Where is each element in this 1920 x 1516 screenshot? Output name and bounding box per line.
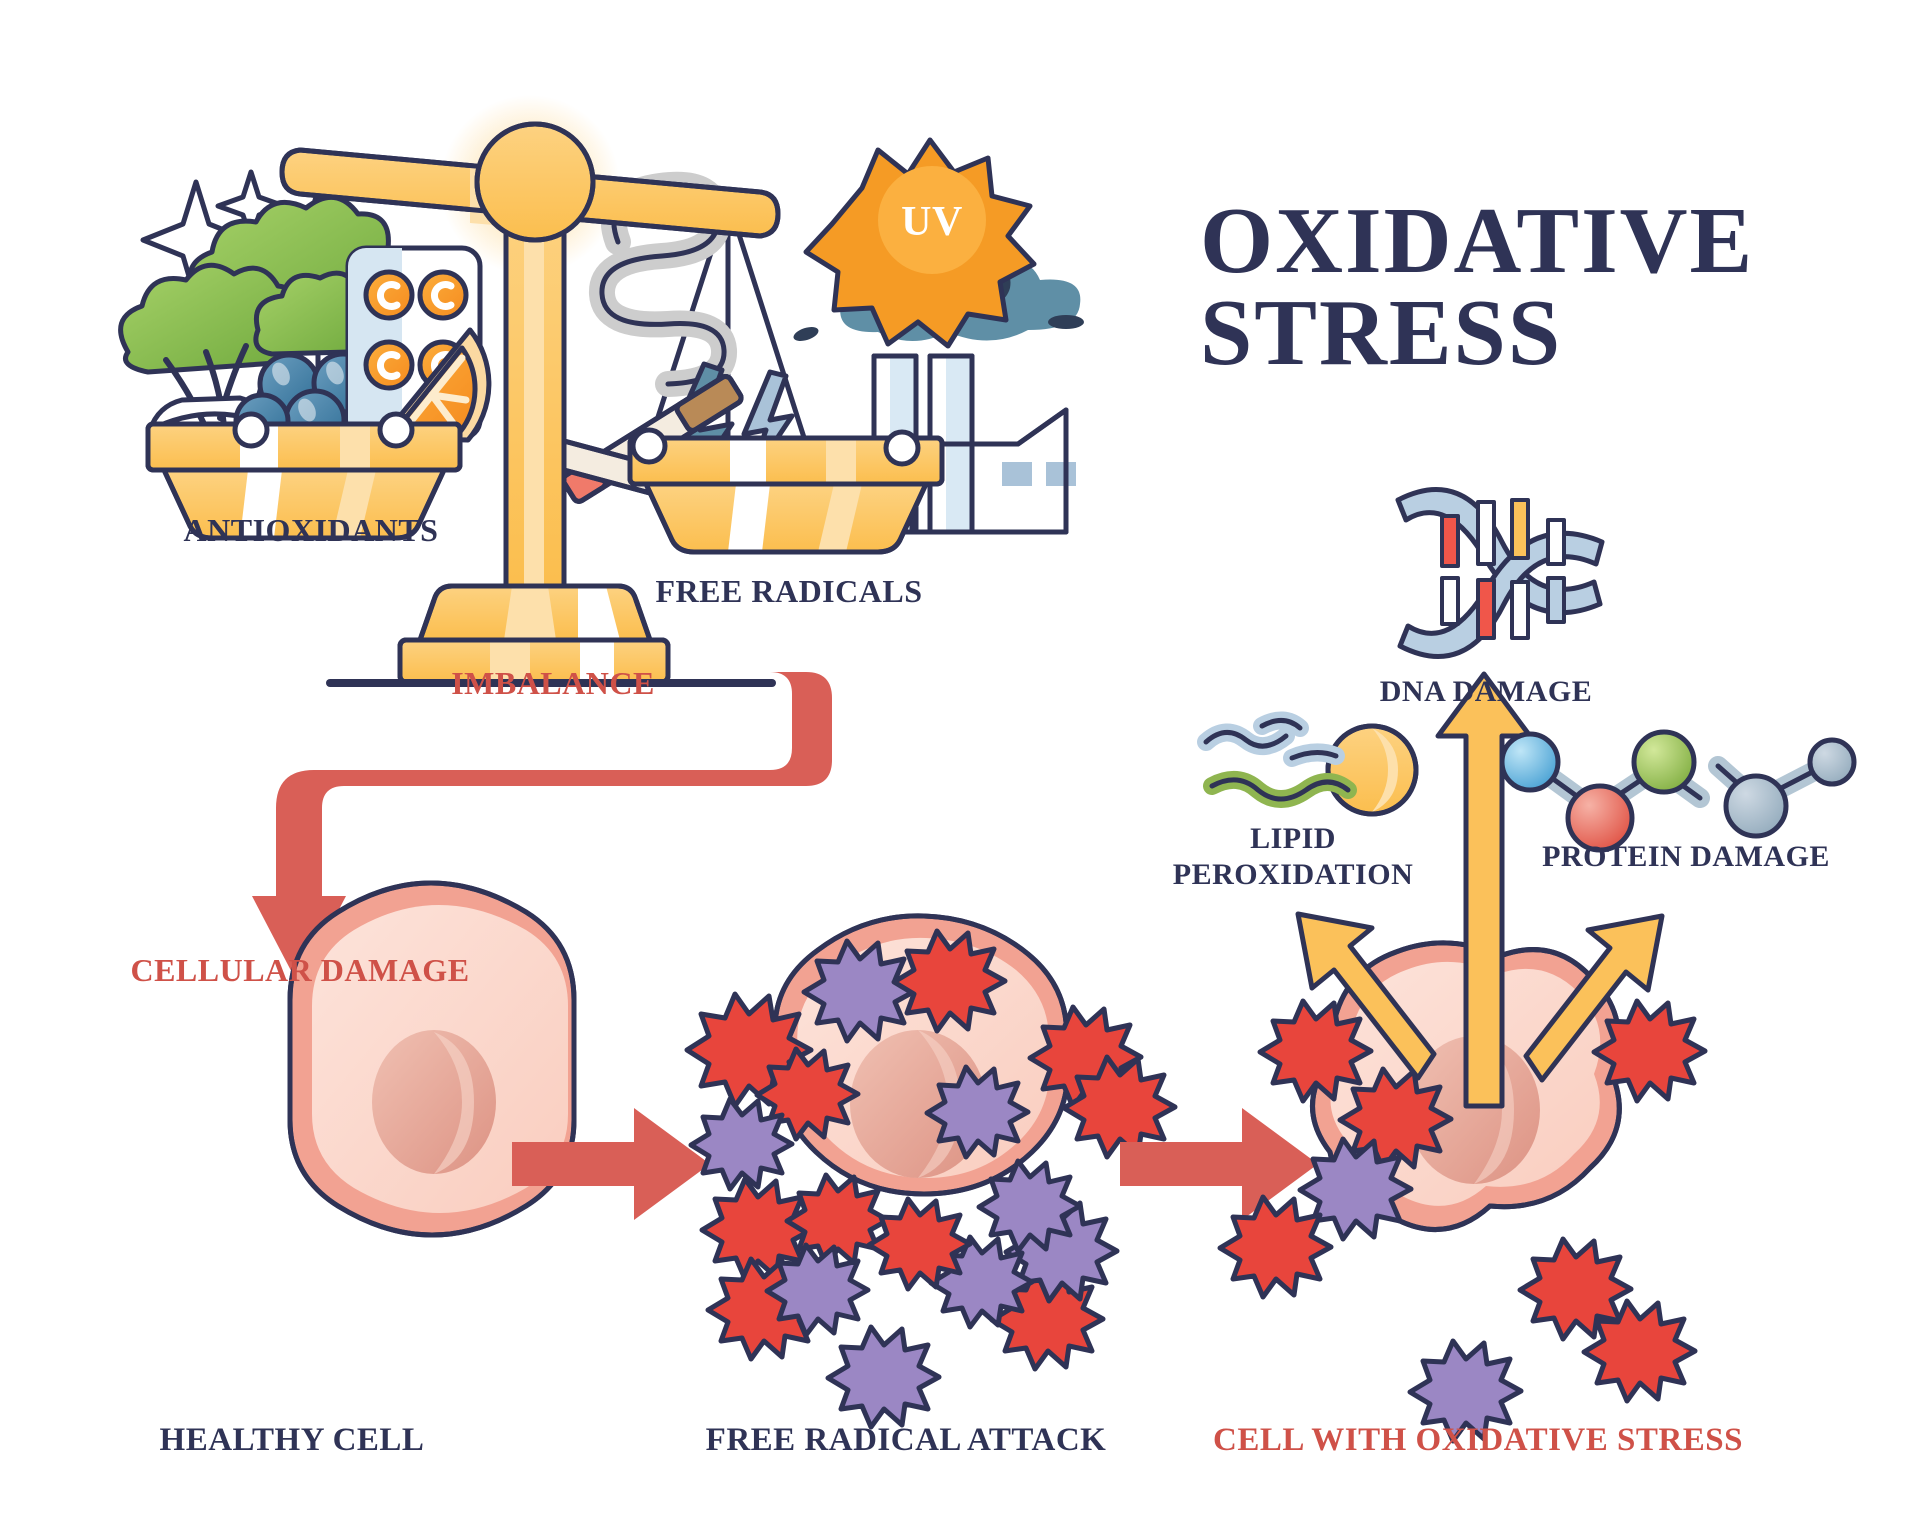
uv-badge-label: UV xyxy=(901,198,963,246)
protein-molecule-icon xyxy=(1502,732,1854,850)
page-title: OXIDATIVE STRESS xyxy=(1200,195,1754,379)
lipid-peroxidation-label-line-2: PEROXIDATION xyxy=(1173,858,1413,892)
free-radical-attack-illustration xyxy=(687,916,1175,1427)
title-line-2: STRESS xyxy=(1200,287,1754,379)
balance-pillar xyxy=(477,124,593,586)
protein-damage-label: PROTEIN DAMAGE xyxy=(1542,840,1830,874)
imbalance-label: IMBALANCE xyxy=(451,665,655,702)
free-radicals-label: FREE RADICALS xyxy=(656,573,923,610)
title-line-1: OXIDATIVE xyxy=(1200,195,1754,287)
dna-helix-icon xyxy=(1398,489,1602,656)
oxidative-stress-cell-illustration xyxy=(1220,943,1705,1441)
lipid-peroxidation-label-line-1: LIPID xyxy=(1250,822,1336,856)
free-radical-attack-label: FREE RADICAL ATTACK xyxy=(706,1422,1107,1459)
cellular-damage-label: CELLULAR DAMAGE xyxy=(130,952,469,989)
lipid-molecule-icon xyxy=(1206,720,1416,814)
right-pan xyxy=(630,430,942,552)
healthy-cell-label: HEALTHY CELL xyxy=(160,1422,425,1459)
infographic-canvas: OXIDATIVE STRESS ANTIOXIDANTS FREE RADIC… xyxy=(0,0,1920,1516)
oxidative-stress-cell-label: CELL WITH OXIDATIVE STRESS xyxy=(1213,1422,1743,1459)
antioxidants-label: ANTIOXIDANTS xyxy=(184,512,439,549)
dna-damage-label: DNA DAMAGE xyxy=(1380,675,1593,709)
